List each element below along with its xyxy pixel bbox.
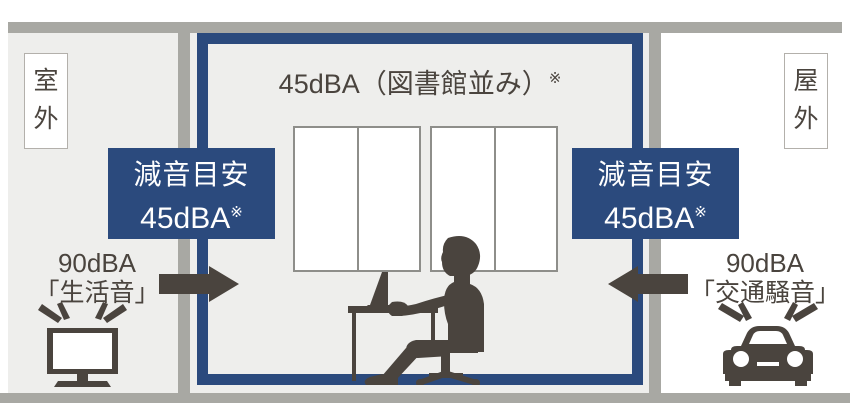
ceiling-slab — [8, 22, 842, 33]
sound-source-level: 90dBA — [690, 248, 840, 278]
tv-icon — [30, 300, 135, 390]
sound-arrow-inward-right — [608, 266, 688, 302]
vertical-char: 外 — [785, 100, 827, 138]
room-noise-level-note: （図書館並み） — [360, 69, 549, 99]
sound-source-level: 90dBA — [22, 248, 172, 278]
badge-heading: 減音目安 — [572, 156, 739, 194]
badge-value-row: 45dBA※ — [108, 194, 275, 238]
badge-value: 45dBA — [604, 202, 694, 235]
label-outdoor-right: 屋 外 — [784, 53, 828, 149]
vertical-char: 室 — [25, 62, 67, 100]
car-icon — [713, 300, 823, 390]
soundproofing-diagram: 45dBA（図書館並み）※ — [0, 0, 850, 410]
vertical-char: 屋 — [785, 62, 827, 100]
noise-reduction-badge-left: 減音目安 45dBA※ — [108, 148, 275, 239]
room-noise-level-text: 45dBA — [279, 69, 360, 99]
badge-value-row: 45dBA※ — [572, 194, 739, 238]
reference-mark-badge: ※ — [694, 204, 707, 221]
reference-mark-badge: ※ — [230, 204, 243, 221]
badge-value: 45dBA — [140, 202, 230, 235]
floor-slab — [0, 393, 850, 403]
room-noise-level-title: 45dBA（図書館並み）※ — [208, 62, 632, 101]
person-at-desk-scene — [330, 228, 515, 385]
sound-source-label-left: 90dBA 「生活音」 — [22, 248, 172, 308]
vertical-char: 外 — [25, 100, 67, 138]
label-indoor-outside-left: 室 外 — [24, 53, 68, 149]
badge-heading: 減音目安 — [108, 156, 275, 194]
sound-source-label-right: 90dBA 「交通騒音」 — [690, 248, 840, 308]
noise-reduction-badge-right: 減音目安 45dBA※ — [572, 148, 739, 239]
reference-mark-title: ※ — [549, 70, 562, 87]
